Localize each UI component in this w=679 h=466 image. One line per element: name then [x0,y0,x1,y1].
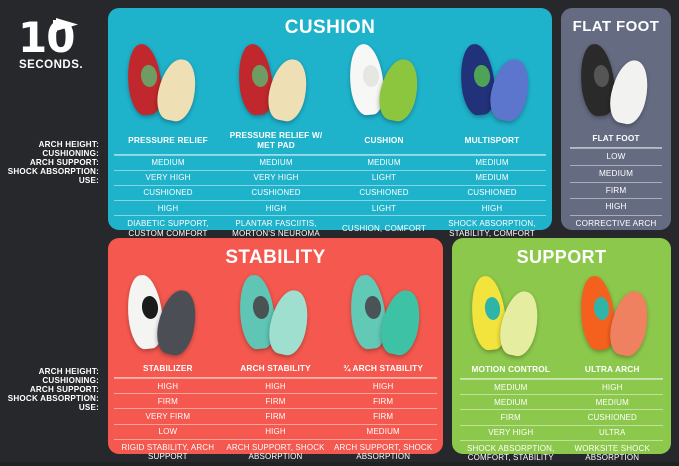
table-row: FIRM [570,182,662,199]
column-header: ¾ ARCH STABILITY [329,361,437,377]
table-cell: FIRM [222,409,330,423]
table-cell: FIRM [222,394,330,408]
insole-front-view [605,57,653,127]
table-cell: CUSHIONED [438,186,546,200]
table-cell: ARCH SUPPORT, SHOCK ABSORPTION [222,440,330,465]
table-cell: MEDIUM [562,395,664,409]
table-header-row: MOTION CONTROLULTRA ARCH [460,362,663,379]
table-row: FIRMCUSHIONED [460,409,663,424]
insole-front-view [486,56,534,124]
insole-front-view [265,287,313,358]
column-header: FLAT FOOT [570,131,662,147]
panel-title-stability: STABILITY [108,238,443,269]
table-cell: CUSHIONED [114,186,222,200]
table-cell: HIGH [438,201,546,215]
table-cell: FIRM [329,394,437,408]
table-row: LOW [570,148,662,165]
insole-front-view [153,56,201,124]
table-cell: VERY HIGH [114,171,222,185]
row-label-arch-support-2: ARCH SUPPORT: [0,385,104,394]
table-row: LOWHIGHMEDIUM [114,424,437,439]
cushion-product-images [108,41,552,125]
column-header: CUSHION [330,133,438,149]
table-row: HIGHHIGHHIGH [114,378,437,393]
table-header-row: STABILIZERARCH STABILITY¾ ARCH STABILITY [114,361,437,378]
three-quarter-arch-stability-insole-image [331,271,443,359]
table-cell: CUSHIONED [330,186,438,200]
row-label-arch-height: ARCH HEIGHT: [0,140,104,149]
table-cell: MEDIUM [570,166,662,182]
panel-title-support: SUPPORT [452,238,671,268]
row-labels-bottom: ARCH HEIGHT: CUSHIONING: ARCH SUPPORT: S… [0,367,104,412]
table-cell: MEDIUM [329,425,437,439]
table-row: CUSHIONEDCUSHIONEDCUSHIONEDCUSHIONED [114,185,546,200]
insole-front-view [376,287,424,358]
support-product-images [452,272,671,360]
cushion-spec-table: PRESSURE RELIEFPRESSURE RELIEF W/ MET PA… [108,128,552,242]
table-cell: FIRM [460,410,562,424]
table-cell: FIRM [114,394,222,408]
table-row: HIGH [570,198,662,215]
support-spec-table: MOTION CONTROLULTRA ARCHMEDIUMHIGHMEDIUM… [452,362,671,466]
logo-number: 10 [12,18,92,58]
table-cell: MEDIUM [114,156,222,170]
row-label-shock-absorption: SHOCK ABSORPTION: [0,167,104,176]
table-cell: RIGID STABILITY, ARCH SUPPORT [114,440,222,465]
ultra-arch-insole-image [562,272,672,360]
logo-word: SECONDS. [12,59,92,71]
multisport-insole-image [441,41,552,125]
insole-front-view [605,288,653,359]
table-cell: ULTRA [562,426,664,440]
table-cell: MEDIUM [460,380,562,394]
table-row: MEDIUM [570,165,662,182]
column-header: MULTISPORT [438,133,546,149]
table-cell: VERY HIGH [222,171,330,185]
column-header: ARCH STABILITY [222,361,330,377]
column-header: ULTRA ARCH [562,362,664,378]
table-cell: MEDIUM [438,171,546,185]
table-cell: HIGH [222,425,330,439]
table-cell: HIGH [114,379,222,393]
row-label-cushioning-2: CUSHIONING: [0,376,104,385]
panel-flat-foot: FLAT FOOT FLAT FOOTLOWMEDIUMFIRMHIGHCORR… [561,8,671,230]
table-row: MEDIUMMEDIUMMEDIUMMEDIUM [114,155,546,170]
panel-title-flat-foot: FLAT FOOT [561,8,671,35]
table-cell: VERY HIGH [460,426,562,440]
flat-foot-product-images [561,41,671,127]
table-cell: ARCH SUPPORT, SHOCK ABSORPTION [329,440,437,465]
table-cell: MEDIUM [460,395,562,409]
table-cell: MEDIUM [438,156,546,170]
row-label-use: USE: [0,176,104,185]
stabilizer-insole-image [108,271,220,359]
table-cell: CUSHION, COMFORT [330,221,438,237]
insole-comparison-chart: 10 SECONDS. ARCH HEIGHT: CUSHIONING: ARC… [0,0,679,462]
column-header: PRESSURE RELIEF W/ MET PAD [222,128,330,154]
row-label-use-2: USE: [0,403,104,412]
table-cell: VERY FIRM [114,409,222,423]
stability-spec-table: STABILIZERARCH STABILITY¾ ARCH STABILITY… [108,361,443,465]
panel-stability: STABILITY STABILIZERARCH STABILITY¾ ARCH… [108,238,443,454]
table-row: SHOCK ABSORPTION, COMFORT, STABILITYWORK… [460,440,663,466]
table-row: VERY HIGHVERY HIGHLIGHTMEDIUM [114,170,546,185]
table-cell: FIRM [570,183,662,199]
row-labels-top: ARCH HEIGHT: CUSHIONING: ARCH SUPPORT: S… [0,140,104,185]
motion-control-insole-image [452,272,562,360]
panel-support: SUPPORT MOTION CONTROLULTRA ARCHMEDIUMHI… [452,238,671,454]
table-row: FIRMFIRMFIRM [114,393,437,408]
insole-front-view [496,288,544,359]
table-cell: LIGHT [330,171,438,185]
brand-logo: 10 SECONDS. [12,18,92,94]
arch-stability-insole-image [220,271,332,359]
table-row: VERY FIRMFIRMFIRM [114,408,437,423]
table-cell: HIGH [222,379,330,393]
table-cell: LOW [114,425,222,439]
table-cell: CORRECTIVE ARCH [570,216,662,232]
insole-front-view [375,56,423,124]
cushion-insole-image [330,41,441,125]
row-label-arch-height-2: ARCH HEIGHT: [0,367,104,376]
panel-title-cushion: CUSHION [108,8,552,39]
row-label-cushioning: CUSHIONING: [0,149,104,158]
table-cell: CUSHIONED [222,186,330,200]
table-row: CORRECTIVE ARCH [570,215,662,232]
flat-foot-insole-image [561,41,671,127]
table-cell: CUSHIONED [562,410,664,424]
table-cell: HIGH [222,201,330,215]
table-cell: HIGH [114,201,222,215]
insole-front-view [264,56,312,124]
insole-front-view [153,287,201,358]
table-row: RIGID STABILITY, ARCH SUPPORTARCH SUPPOR… [114,439,437,465]
column-header: STABILIZER [114,361,222,377]
table-cell: SHOCK ABSORPTION, COMFORT, STABILITY [460,441,562,466]
column-header: PRESSURE RELIEF [114,133,222,149]
table-cell: LIGHT [330,201,438,215]
row-label-shock-absorption-2: SHOCK ABSORPTION: [0,394,104,403]
pressure-relief-insole-image [108,41,219,125]
table-cell: MEDIUM [330,156,438,170]
table-cell: HIGH [570,199,662,215]
panel-cushion: CUSHION PRESSURE RELIEFPRESSURE RELIEF W… [108,8,552,230]
table-header-row: FLAT FOOT [570,131,662,148]
flat-foot-spec-table: FLAT FOOTLOWMEDIUMFIRMHIGHCORRECTIVE ARC… [561,131,671,232]
row-label-arch-support: ARCH SUPPORT: [0,158,104,167]
table-header-row: PRESSURE RELIEFPRESSURE RELIEF W/ MET PA… [114,128,546,155]
stability-product-images [108,271,443,359]
table-cell: HIGH [562,380,664,394]
table-cell: WORKSITE SHOCK ABSORPTION [562,441,664,466]
column-header: MOTION CONTROL [460,362,562,378]
pressure-relief-met-pad-insole-image [219,41,330,125]
table-cell: HIGH [329,379,437,393]
table-row: MEDIUMMEDIUM [460,394,663,409]
table-row: MEDIUMHIGH [460,379,663,394]
table-cell: MEDIUM [222,156,330,170]
table-row: HIGHHIGHLIGHTHIGH [114,200,546,215]
table-cell: FIRM [329,409,437,423]
table-row: VERY HIGHULTRA [460,425,663,440]
table-cell: LOW [570,149,662,165]
